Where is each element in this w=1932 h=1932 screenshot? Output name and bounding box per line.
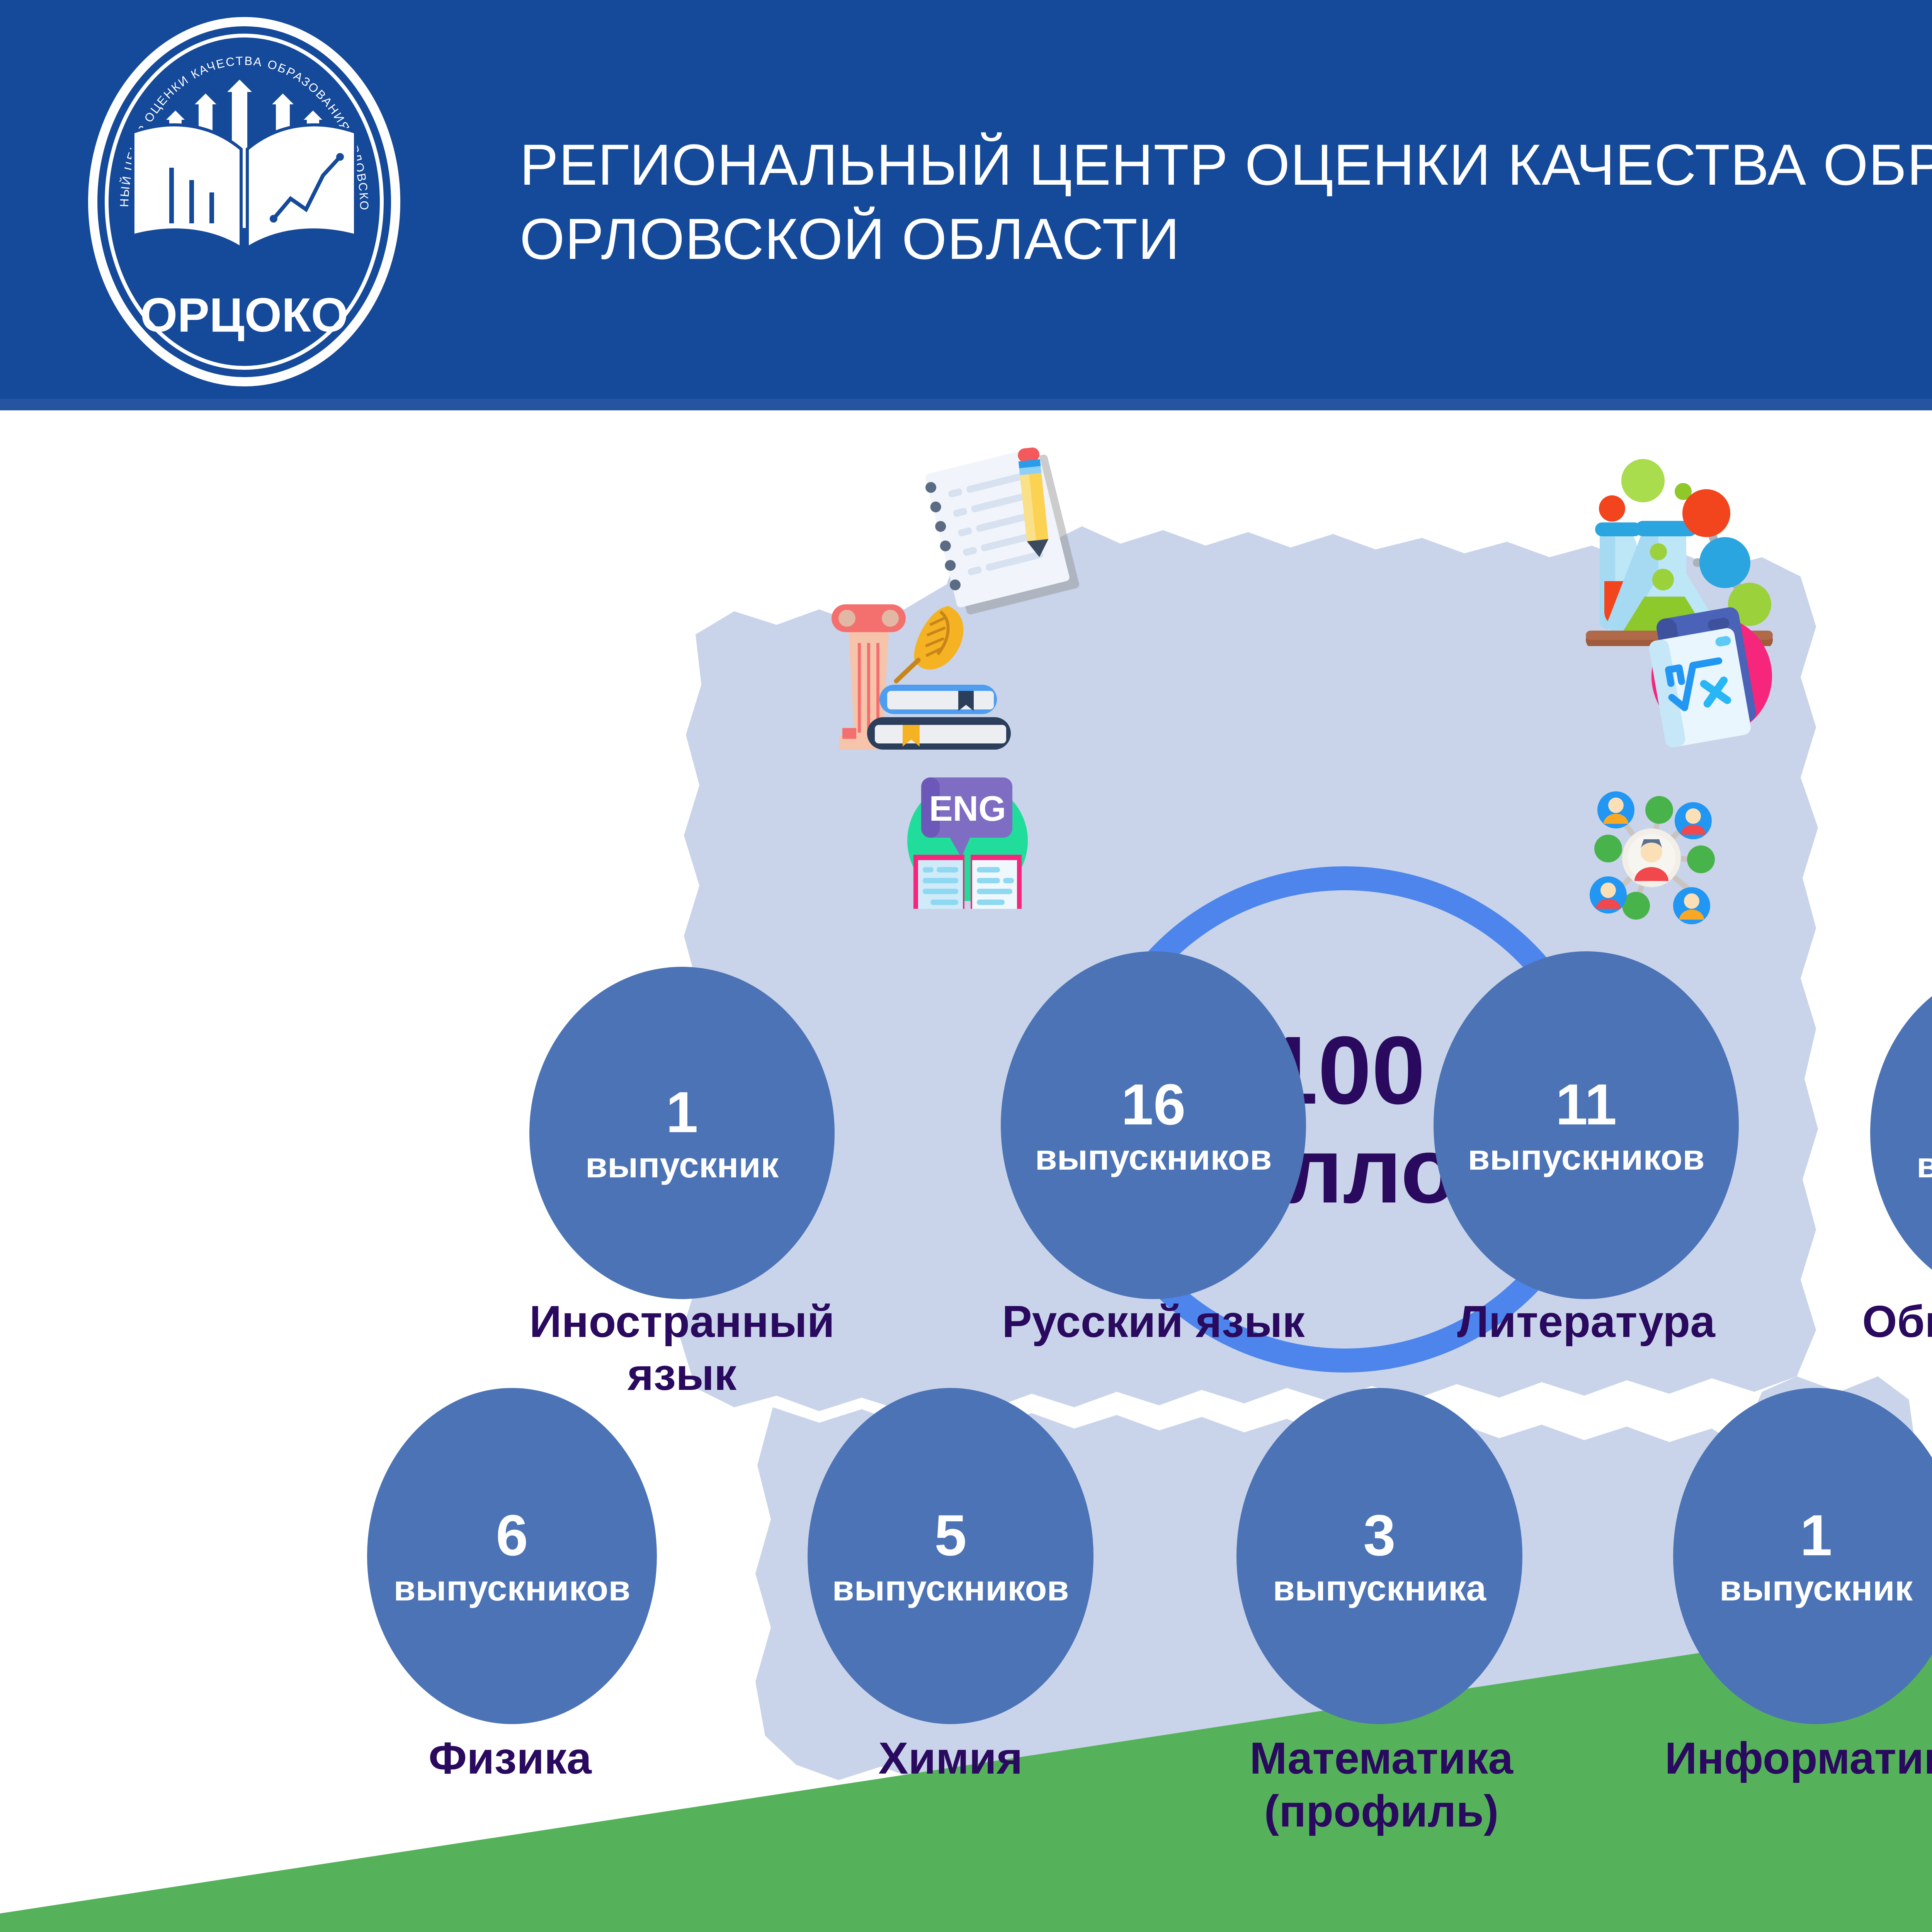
social-network-people-icon <box>1565 777 1739 944</box>
header-bottom-shade <box>0 399 1932 410</box>
column-quill-books-icon <box>804 577 1043 793</box>
stat-circle-math-profile: 3 выпускника <box>1236 1388 1522 1724</box>
stat-number: 3 <box>1363 1506 1395 1564</box>
subject-label-literature: Литература <box>1376 1295 1797 1348</box>
page-header: РЕГИОНАЛЬНЫЙ ЦЕНТР ОЦЕНКИ КАЧЕСТВА ОБРАЗ… <box>0 0 1932 410</box>
stat-unit: выпускников <box>832 1570 1069 1606</box>
stat-circle-foreign-language: 1 выпускник <box>529 967 835 1299</box>
subject-label-informatics: Информатика <box>1619 1732 1932 1785</box>
stat-number: 11 <box>1556 1075 1617 1133</box>
subject-label-physics: Физика <box>305 1732 715 1785</box>
math-notebook-icon <box>1634 596 1789 750</box>
page-title: РЕГИОНАЛЬНЫЙ ЦЕНТР ОЦЕНКИ КАЧЕСТВА ОБРАЗ… <box>520 128 1932 276</box>
stat-number: 1 <box>1800 1506 1832 1564</box>
eng-label: ENG <box>929 789 1006 828</box>
subject-label-chemistry: Химия <box>750 1732 1151 1785</box>
stat-unit: выпускника <box>1273 1570 1486 1606</box>
stat-number: 1 <box>666 1083 698 1141</box>
stat-circle-russian: 16 выпускников <box>1001 951 1306 1299</box>
infographic-stage: ENG <box>0 410 1932 1932</box>
stat-number: 5 <box>934 1506 966 1564</box>
stat-unit: выпускников <box>1035 1139 1272 1175</box>
subject-label-russian: Русский язык <box>927 1295 1379 1348</box>
logo-acronym-text: ОРЦОКО <box>140 289 348 342</box>
stat-unit: выпускник <box>1719 1570 1913 1606</box>
stat-unit: выпускник <box>585 1147 779 1183</box>
eng-book-icon: ENG <box>896 770 1039 913</box>
stat-circle-literature: 11 выпускников <box>1434 951 1739 1299</box>
stat-number: 6 <box>496 1506 528 1564</box>
orcoko-logo-svg: РЕГИОНАЛЬНЫЙ ЦЕНТР ОЦЕНКИ КАЧЕСТВА ОБРАЗ… <box>88 16 401 387</box>
subject-label-math-profile: Математика (профиль) <box>1155 1732 1607 1838</box>
subject-label-social-studies: Обществознание <box>1781 1295 1932 1348</box>
stat-circle-chemistry: 5 выпускников <box>808 1388 1094 1724</box>
stat-unit: выпускник <box>1917 1147 1932 1183</box>
stat-number: 16 <box>1121 1075 1186 1133</box>
stat-unit: выпускников <box>393 1570 630 1606</box>
stat-unit: выпускников <box>1468 1139 1704 1175</box>
orcoko-logo: РЕГИОНАЛЬНЫЙ ЦЕНТР ОЦЕНКИ КАЧЕСТВА ОБРАЗ… <box>88 16 401 387</box>
subject-label-foreign-language: Иностранный язык <box>437 1295 927 1401</box>
stat-circle-physics: 6 выпускников <box>367 1388 657 1724</box>
